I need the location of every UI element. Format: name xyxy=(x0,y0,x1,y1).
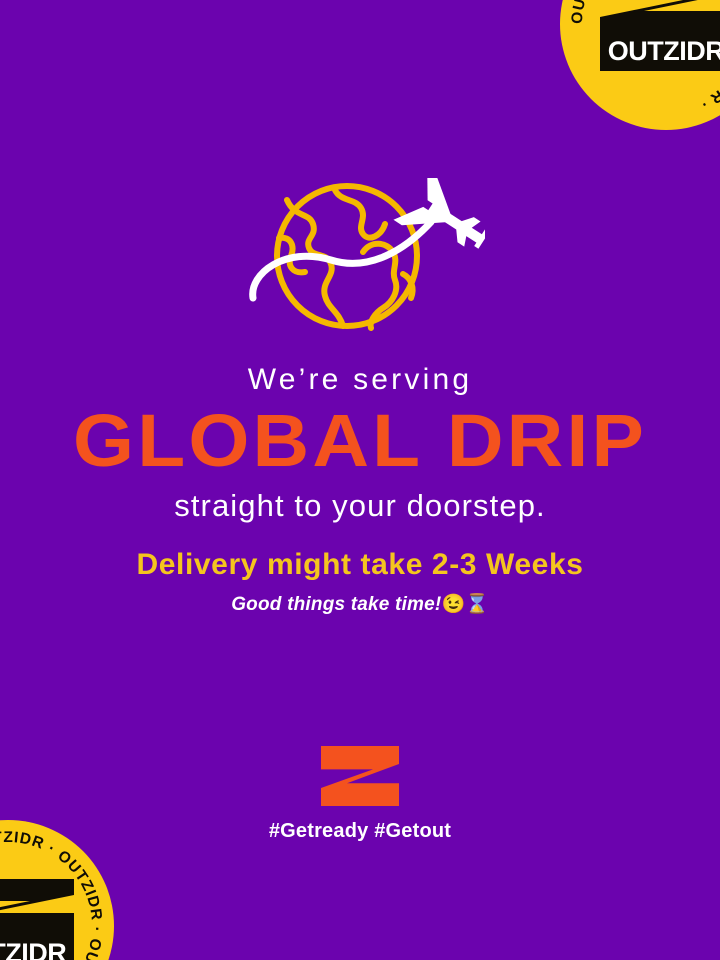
hourglass-emoji-icon: ⌛ xyxy=(465,594,489,615)
delivery-subtext: Good things take time! xyxy=(231,594,441,615)
badge-core: OUTZIDR xyxy=(0,879,74,960)
headline-block: We’re serving GLOBAL DRIP straight to yo… xyxy=(0,364,720,522)
badge-wordmark: OUTZIDR xyxy=(0,935,74,960)
eyebrow-text: We’re serving xyxy=(0,364,720,396)
badge-wordmark: OUTZIDR xyxy=(600,33,720,71)
z-logo-mark-icon xyxy=(0,879,74,935)
z-logo-mark-icon xyxy=(600,0,720,33)
z-logo-mark-icon xyxy=(321,746,399,806)
hashtags-text: #Getready #Getout xyxy=(0,820,720,843)
promo-poster: OUTZIDR · OUTZIDR · OUTZIDR · OUTZIDR · … xyxy=(0,0,720,960)
delivery-subtext-row: Good things take time!😉⌛ xyxy=(0,592,720,616)
airplane-icon xyxy=(393,178,485,267)
footer-block: #Getready #Getout xyxy=(0,746,720,843)
delivery-notice: Delivery might take 2-3 Weeks Good thing… xyxy=(0,548,720,616)
page-title: GLOBAL DRIP xyxy=(0,404,720,478)
globe-with-airplane-icon xyxy=(235,178,485,343)
brand-badge-top-right: OUTZIDR · OUTZIDR · OUTZIDR · OUTZIDR · … xyxy=(560,0,720,130)
wink-face-emoji-icon: 😉 xyxy=(441,594,465,615)
badge-core: OUTZIDR xyxy=(600,0,720,71)
delivery-headline: Delivery might take 2-3 Weeks xyxy=(0,548,720,581)
subtitle-text: straight to your doorstep. xyxy=(0,490,720,523)
